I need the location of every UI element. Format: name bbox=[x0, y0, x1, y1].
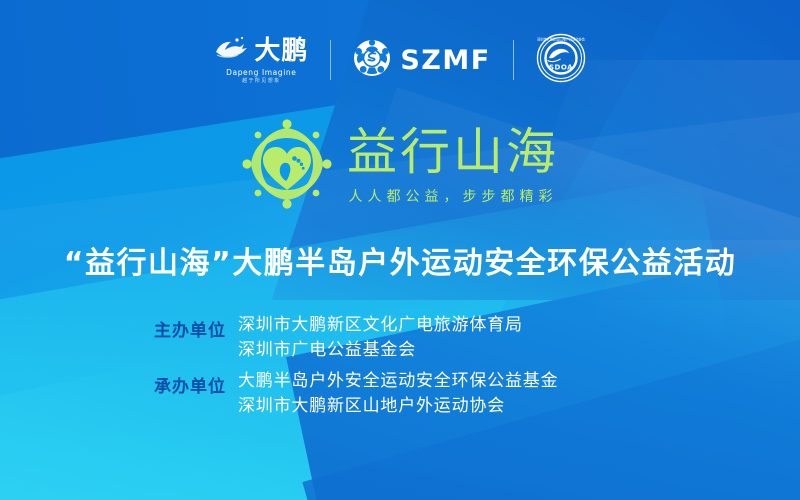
brand-slogan: 人人都公益，步步都精彩 bbox=[349, 186, 558, 206]
sdoa-wordmark: SDOA bbox=[549, 64, 573, 72]
organizer-names-host: 深圳市大鹏新区文化广电旅游体育局 深圳市广电公益基金会 bbox=[238, 315, 523, 362]
organizer-row-host: 主办单位 深圳市大鹏新区文化广电旅游体育局 深圳市广电公益基金会 bbox=[140, 315, 660, 362]
organizer-name: 大鹏半岛户外安全运动安全环保公益基金 bbox=[238, 371, 558, 392]
organizer-names-operator: 大鹏半岛户外安全运动安全环保公益基金 深圳市大鹏新区山地户外运动协会 bbox=[238, 371, 558, 418]
organizer-row-operator: 承办单位 大鹏半岛户外安全运动安全环保公益基金 深圳市大鹏新区山地户外运动协会 bbox=[140, 371, 660, 418]
szmf-wordmark: SZMF bbox=[400, 45, 490, 76]
organizer-name: 深圳市广电公益基金会 bbox=[238, 340, 523, 361]
logo-divider-2 bbox=[513, 40, 514, 80]
organizer-name: 深圳市大鹏新区山地户外运动协会 bbox=[238, 396, 558, 417]
heart-footprint-people-circle-icon bbox=[241, 118, 333, 214]
partner-logo-bar: 大鹏 Dapeng Imagine 越于所见想象 bbox=[0, 33, 800, 87]
szmf-emblem-icon bbox=[353, 39, 391, 81]
organizer-block: 主办单位 深圳市大鹏新区文化广电旅游体育局 深圳市广电公益基金会 承办单位 大鹏… bbox=[0, 315, 800, 417]
organizer-label-host: 主办单位 bbox=[140, 315, 226, 341]
sdoa-logo: SDOA 深圳市大鹏新区山地户外运动协会 bbox=[536, 33, 586, 87]
logo-divider-1 bbox=[330, 40, 331, 80]
dapeng-imagine-logo: 大鹏 Dapeng Imagine 越于所见想象 bbox=[214, 36, 308, 84]
page-title: “益行山海”大鹏半岛户外运动安全环保公益活动 bbox=[0, 238, 800, 282]
organizer-name: 深圳市大鹏新区文化广电旅游体育局 bbox=[238, 315, 523, 336]
organizer-label-operator: 承办单位 bbox=[140, 371, 226, 397]
brand-logo: 益行山海 人人都公益，步步都精彩 bbox=[0, 118, 800, 214]
dapeng-logo-cn: 大鹏 bbox=[254, 38, 308, 64]
svg-text:深圳市大鹏新区山地户外运动协会: 深圳市大鹏新区山地户外运动协会 bbox=[537, 37, 586, 42]
event-poster: 大鹏 Dapeng Imagine 越于所见想象 bbox=[0, 0, 800, 500]
dapeng-logo-tagline: 越于所见想象 bbox=[242, 79, 280, 84]
brand-title: 益行山海 bbox=[347, 127, 559, 177]
bird-map-icon bbox=[214, 36, 250, 65]
sdoa-badge-icon: SDOA 深圳市大鹏新区山地户外运动协会 bbox=[536, 33, 586, 87]
szmf-logo: SZMF bbox=[353, 39, 490, 81]
dapeng-logo-en: Dapeng Imagine bbox=[226, 69, 296, 77]
